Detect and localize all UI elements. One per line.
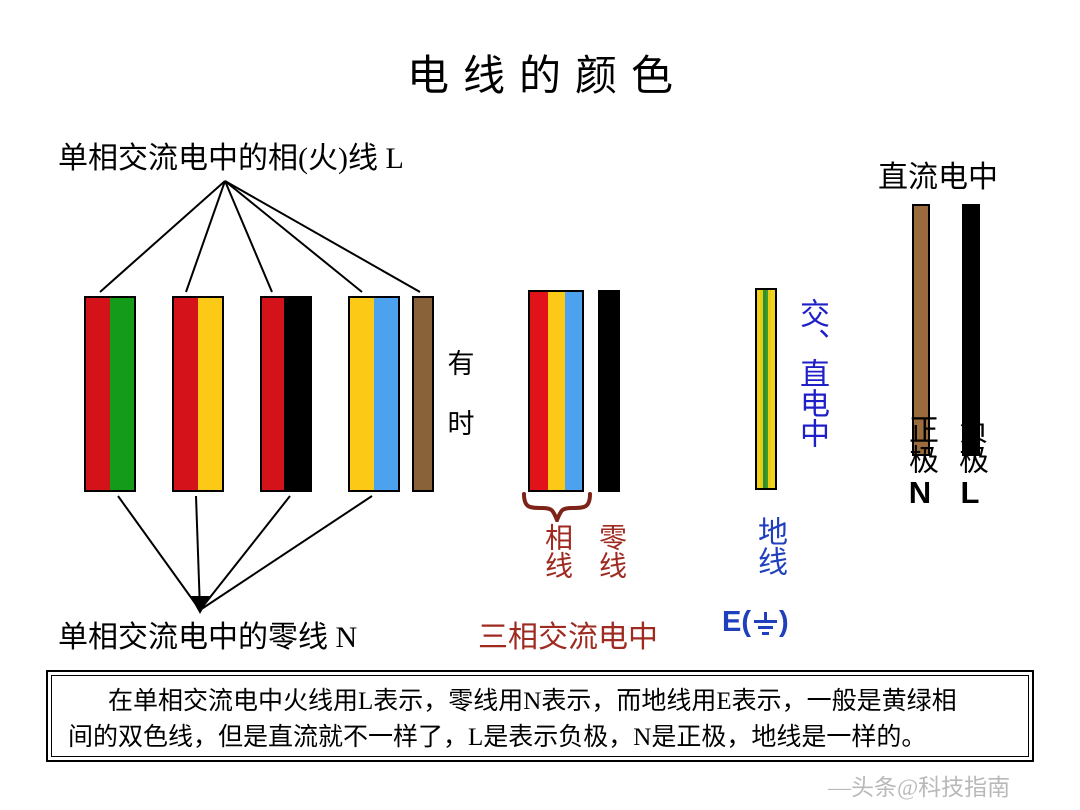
label-neutral-line: 零线 — [592, 523, 626, 579]
connector-top-5 — [225, 181, 420, 292]
label-ac-dc-text: 交、直电中 — [792, 298, 831, 448]
wire-bar-yellow-blue — [348, 296, 400, 492]
wire-bar-three-phase-live — [528, 290, 584, 492]
connector-bottom-4 — [200, 496, 372, 610]
wire-stripe — [374, 298, 398, 490]
connector-top-3 — [225, 181, 272, 292]
wire-stripe — [262, 298, 284, 490]
wire-stripe — [600, 292, 618, 490]
wire-stripe — [86, 298, 110, 490]
label-dc-positive: 正极 N — [900, 414, 940, 512]
connector-bottom-1 — [118, 496, 200, 610]
wire-stripe — [565, 292, 582, 490]
wire-bar-red-yellow — [172, 296, 224, 492]
connector-top-2 — [186, 181, 225, 292]
ground-code-prefix: E( — [722, 606, 751, 639]
label-neutral-line-text: 零线 — [592, 523, 628, 579]
connector-top-1 — [100, 181, 225, 292]
wire-stripe — [350, 298, 374, 490]
explanation-line-1: 在单相交流电中火线用L表示，零线用N表示，而地线用E表示，一般是黄绿相 — [68, 684, 1012, 720]
connector-top-4 — [225, 181, 362, 292]
watermark: —头条@科技指南 — [828, 768, 1010, 802]
page-title: 电线的颜色 — [0, 42, 1080, 103]
explanation-box: 在单相交流电中火线用L表示，零线用N表示，而地线用E表示，一般是黄绿相 间的双色… — [46, 670, 1034, 762]
wire-bar-brown-sometimes — [412, 296, 434, 492]
label-ground-text: 地线 — [748, 516, 790, 576]
connector-bottom-3 — [200, 496, 290, 610]
label-phase-line-text: 相线 — [538, 523, 574, 579]
wire-stripe — [198, 298, 222, 490]
wire-stripe — [530, 292, 548, 490]
wire-bar-three-phase-neutral — [598, 290, 620, 492]
connector-bottom-2 — [196, 496, 200, 610]
diagram-canvas: 电线的颜色 单相交流电中的相(火)线 L 单相交流电中的零线 N 三相交流电中 … — [0, 0, 1080, 810]
label-three-phase: 三相交流电中 — [478, 612, 658, 656]
wire-stripe — [284, 298, 310, 490]
wire-stripe — [548, 292, 565, 490]
label-ground: 地线 — [748, 516, 786, 576]
earth-ground-icon — [752, 610, 778, 636]
label-single-phase-live: 单相交流电中的相(火)线 L — [58, 133, 404, 177]
label-ground-code: E( ) — [722, 606, 789, 639]
label-sometimes: 有时 — [444, 334, 478, 454]
label-ac-dc: 交、直电中 — [792, 298, 826, 448]
label-dc-negative-text: 负极 — [951, 414, 989, 474]
wire-stripe — [110, 298, 134, 490]
label-phase-line: 相线 — [538, 523, 572, 579]
brace-three-phase-live — [520, 492, 594, 522]
wire-bar-red-black — [260, 296, 312, 492]
explanation-line-2: 间的双色线，但是直流就不一样了，L是表示负极，N是正极，地线是一样的。 — [68, 720, 1012, 756]
label-dc-negative: 负极 L — [950, 414, 990, 512]
ground-code-suffix: ) — [779, 606, 789, 639]
label-dc-negative-letter: L — [950, 474, 990, 512]
label-dc-positive-text: 正极 — [901, 414, 939, 474]
wire-stripe — [174, 298, 198, 490]
wire-stripe — [771, 290, 775, 488]
wire-bar-red-green — [84, 296, 136, 492]
wire-stripe — [414, 298, 432, 490]
explanation-box-inner: 在单相交流电中火线用L表示，零线用N表示，而地线用E表示，一般是黄绿相 间的双色… — [51, 675, 1029, 757]
label-dc-positive-letter: N — [900, 474, 940, 512]
wire-bar-ground-yellow-green — [755, 288, 777, 490]
label-single-phase-neutral: 单相交流电中的零线 N — [58, 612, 357, 656]
label-dc: 直流电中 — [878, 152, 998, 196]
